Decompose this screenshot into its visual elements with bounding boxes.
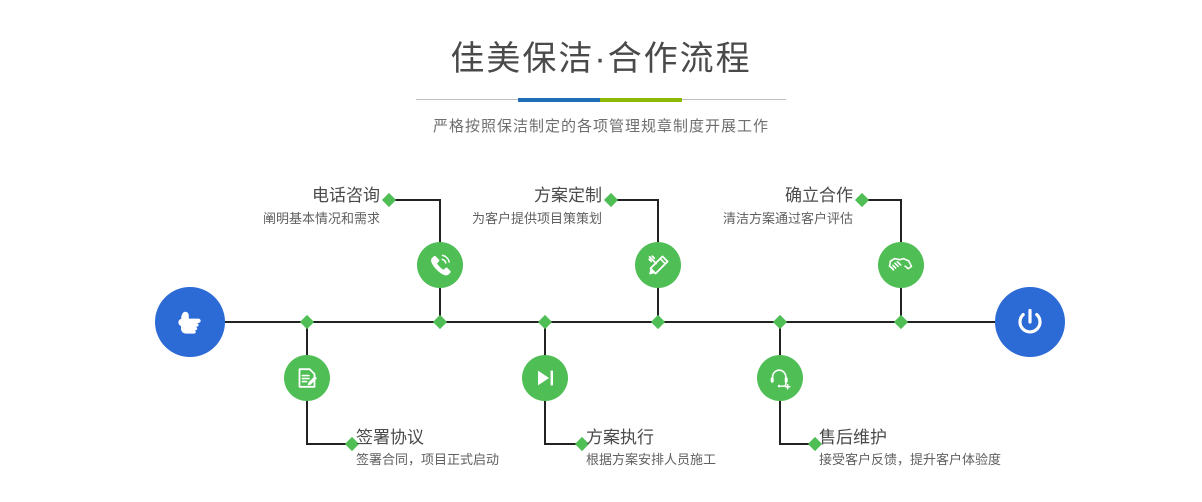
connector-diamond-step5-label [855, 193, 869, 207]
step-label-confirm-cooperation: 确立合作 清洁方案通过客户评估 [597, 186, 853, 228]
step-title: 售后维护 [819, 428, 1099, 448]
pencil-ruler-icon [646, 253, 671, 278]
phone-ring-icon [427, 252, 453, 278]
step-title: 确立合作 [597, 186, 853, 206]
document-edit-icon [295, 366, 319, 390]
axis-diamond-step4 [538, 315, 552, 329]
step-title: 电话咨询 [124, 186, 380, 206]
handshake-icon [888, 252, 914, 278]
step-icon-plan-execute[interactable] [522, 355, 568, 401]
step-desc: 清洁方案通过客户评估 [597, 210, 853, 228]
step-label-phone-consult: 电话咨询 阐明基本情况和需求 [124, 186, 380, 228]
step-label-plan-custom: 方案定制 为客户提供项目策策划 [346, 186, 602, 228]
step-icon-plan-custom[interactable] [635, 242, 681, 288]
flow-start-node[interactable] [155, 287, 225, 357]
step-icon-confirm-cooperation[interactable] [878, 242, 924, 288]
axis-diamond-step6 [773, 315, 787, 329]
step-icon-after-sales[interactable] [757, 355, 803, 401]
step-icon-phone-consult[interactable] [417, 242, 463, 288]
step-title: 签署协议 [356, 428, 616, 448]
step-desc: 签署合同，项目正式启动 [356, 451, 616, 469]
step-desc: 为客户提供项目策策划 [346, 210, 602, 228]
timeline-axis [160, 321, 1056, 323]
step-desc: 根据方案安排人员施工 [586, 451, 846, 469]
step-label-after-sales: 售后维护 接受客户反馈，提升客户体验度 [819, 428, 1099, 469]
customer-service-icon [768, 366, 793, 391]
power-icon [1011, 303, 1049, 341]
play-skip-icon [533, 366, 557, 390]
flow-end-node[interactable] [995, 287, 1065, 357]
hand-pointing-icon [170, 302, 210, 342]
axis-diamond-step5 [894, 315, 908, 329]
axis-diamond-step1 [433, 315, 447, 329]
step-desc: 阐明基本情况和需求 [124, 210, 380, 228]
axis-diamond-step3 [651, 315, 665, 329]
axis-diamond-step2 [300, 315, 314, 329]
step-title: 方案定制 [346, 186, 602, 206]
step-icon-sign-agreement[interactable] [284, 355, 330, 401]
step-label-plan-execute: 方案执行 根据方案安排人员施工 [586, 428, 846, 469]
step-title: 方案执行 [586, 428, 846, 448]
step-desc: 接受客户反馈，提升客户体验度 [819, 451, 1099, 469]
process-flow-diagram: 电话咨询 阐明基本情况和需求 签署协议 签署合同，项目正式启动 方案定制 为客户… [0, 0, 1202, 502]
step-label-sign-agreement: 签署协议 签署合同，项目正式启动 [356, 428, 616, 469]
